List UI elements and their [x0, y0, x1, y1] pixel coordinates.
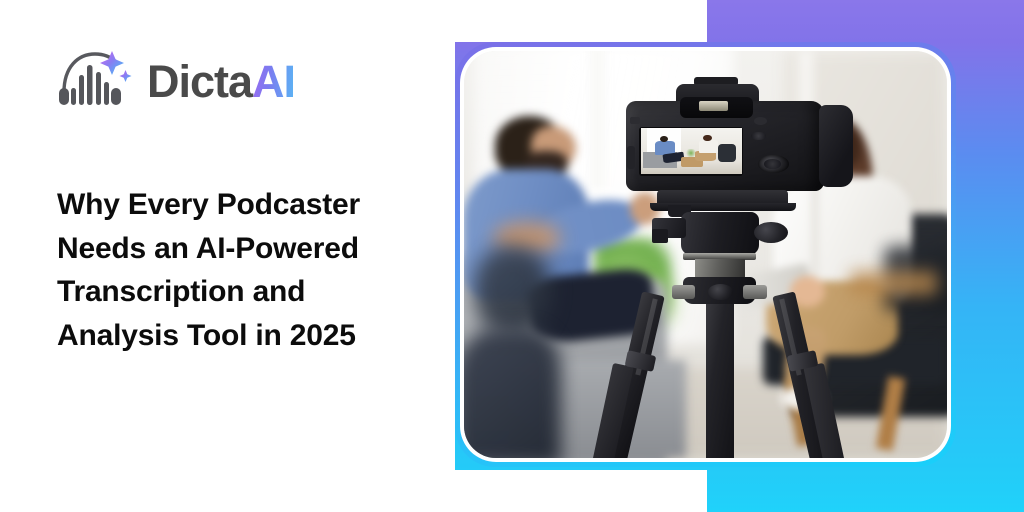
foreground-blur-left-upper	[474, 246, 551, 336]
banner-canvas: DictaAI Why Every Podcaster Needs an AI-…	[0, 0, 1024, 512]
camera-button-right	[751, 132, 766, 141]
lcd-man-head	[660, 136, 668, 142]
lcd-woman-body	[699, 140, 717, 153]
camera-lcd-screen	[639, 127, 743, 176]
brand-logo-text: DictaAI	[147, 59, 295, 104]
camera-button-top-left	[630, 117, 640, 124]
headphones-waveform-sparkle-icon	[57, 48, 133, 114]
camera-grip	[819, 105, 853, 187]
camera-port-cover	[627, 146, 635, 169]
page-title: Why Every Podcaster Needs an AI-Powered …	[57, 183, 427, 357]
tripod-ball-head	[681, 212, 759, 255]
tripod-tension-knob	[754, 222, 788, 243]
tripod-leg-center	[706, 296, 735, 458]
camera-viewfinder-glass	[699, 101, 728, 111]
tripod-hinge-right	[743, 285, 766, 299]
tripod-locking-lever-secondary	[652, 229, 668, 242]
camera-button-top-right	[754, 117, 767, 125]
tripod-apex-ball	[708, 284, 733, 300]
photo-scene	[464, 51, 947, 458]
camera-lcd-live-preview	[641, 128, 742, 174]
lcd-woman-head	[703, 135, 711, 141]
camera-tripod-rig	[590, 75, 851, 458]
brand-name-primary: Dicta	[147, 56, 252, 107]
brand-logo[interactable]: DictaAI	[57, 48, 295, 114]
podcast-studio-photo	[464, 51, 947, 458]
image-card-border	[455, 42, 956, 467]
image-card-inner-frame	[460, 47, 951, 462]
gradient-panel-top	[707, 0, 1024, 42]
foreground-table	[850, 271, 937, 295]
foreground-blur-left	[464, 328, 561, 458]
gradient-panel-bottom	[707, 470, 1024, 512]
tripod-hinge-left	[672, 285, 695, 299]
brand-name-accent: AI	[252, 56, 295, 107]
lcd-chair	[718, 144, 736, 162]
